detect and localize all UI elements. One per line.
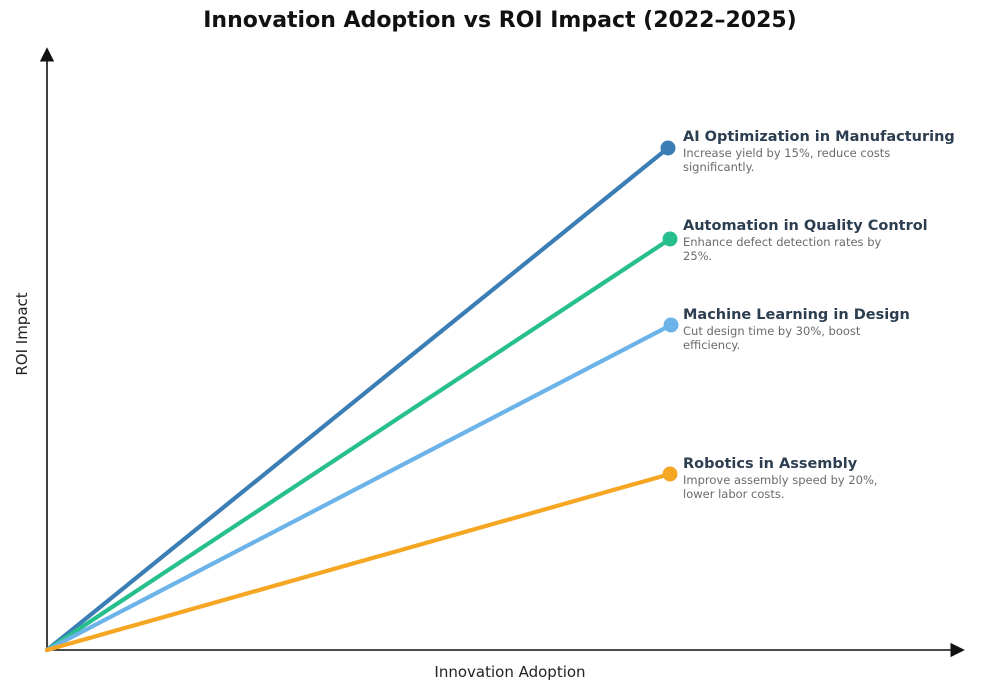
annotation-description: Increase yield by 15%, reduce costs sign… [683, 147, 901, 174]
annotation-description: Cut design time by 30%, boost efficiency… [683, 325, 901, 352]
annotation-ai-optimization: AI Optimization in Manufacturing Increas… [683, 129, 923, 174]
annotation-title: Robotics in Assembly [683, 456, 923, 473]
series-endpoint-marker-1[interactable] [661, 141, 676, 156]
series-line-1 [47, 148, 668, 650]
x-axis-label: Innovation Adoption [300, 663, 720, 681]
annotation-description: Improve assembly speed by 20%, lower lab… [683, 474, 901, 501]
series-endpoint-marker-3[interactable] [664, 318, 679, 333]
annotation-description: Enhance defect detection rates by 25%. [683, 236, 901, 263]
annotation-title: Machine Learning in Design [683, 307, 923, 324]
annotation-robotics-assembly: Robotics in Assembly Improve assembly sp… [683, 456, 923, 501]
series-line-4 [47, 474, 670, 650]
annotation-machine-learning-design: Machine Learning in Design Cut design ti… [683, 307, 923, 352]
series-endpoint-marker-4[interactable] [663, 467, 678, 482]
y-axis-label: ROI Impact [13, 279, 31, 389]
annotation-automation-quality-control: Automation in Quality Control Enhance de… [683, 218, 923, 263]
annotation-title: Automation in Quality Control [683, 218, 923, 235]
series-line-3 [47, 325, 671, 650]
chart-figure: Innovation Adoption vs ROI Impact (2022–… [0, 0, 1000, 700]
series-line-2 [47, 239, 670, 650]
series-endpoint-marker-2[interactable] [663, 232, 678, 247]
annotation-title: AI Optimization in Manufacturing [683, 129, 923, 146]
